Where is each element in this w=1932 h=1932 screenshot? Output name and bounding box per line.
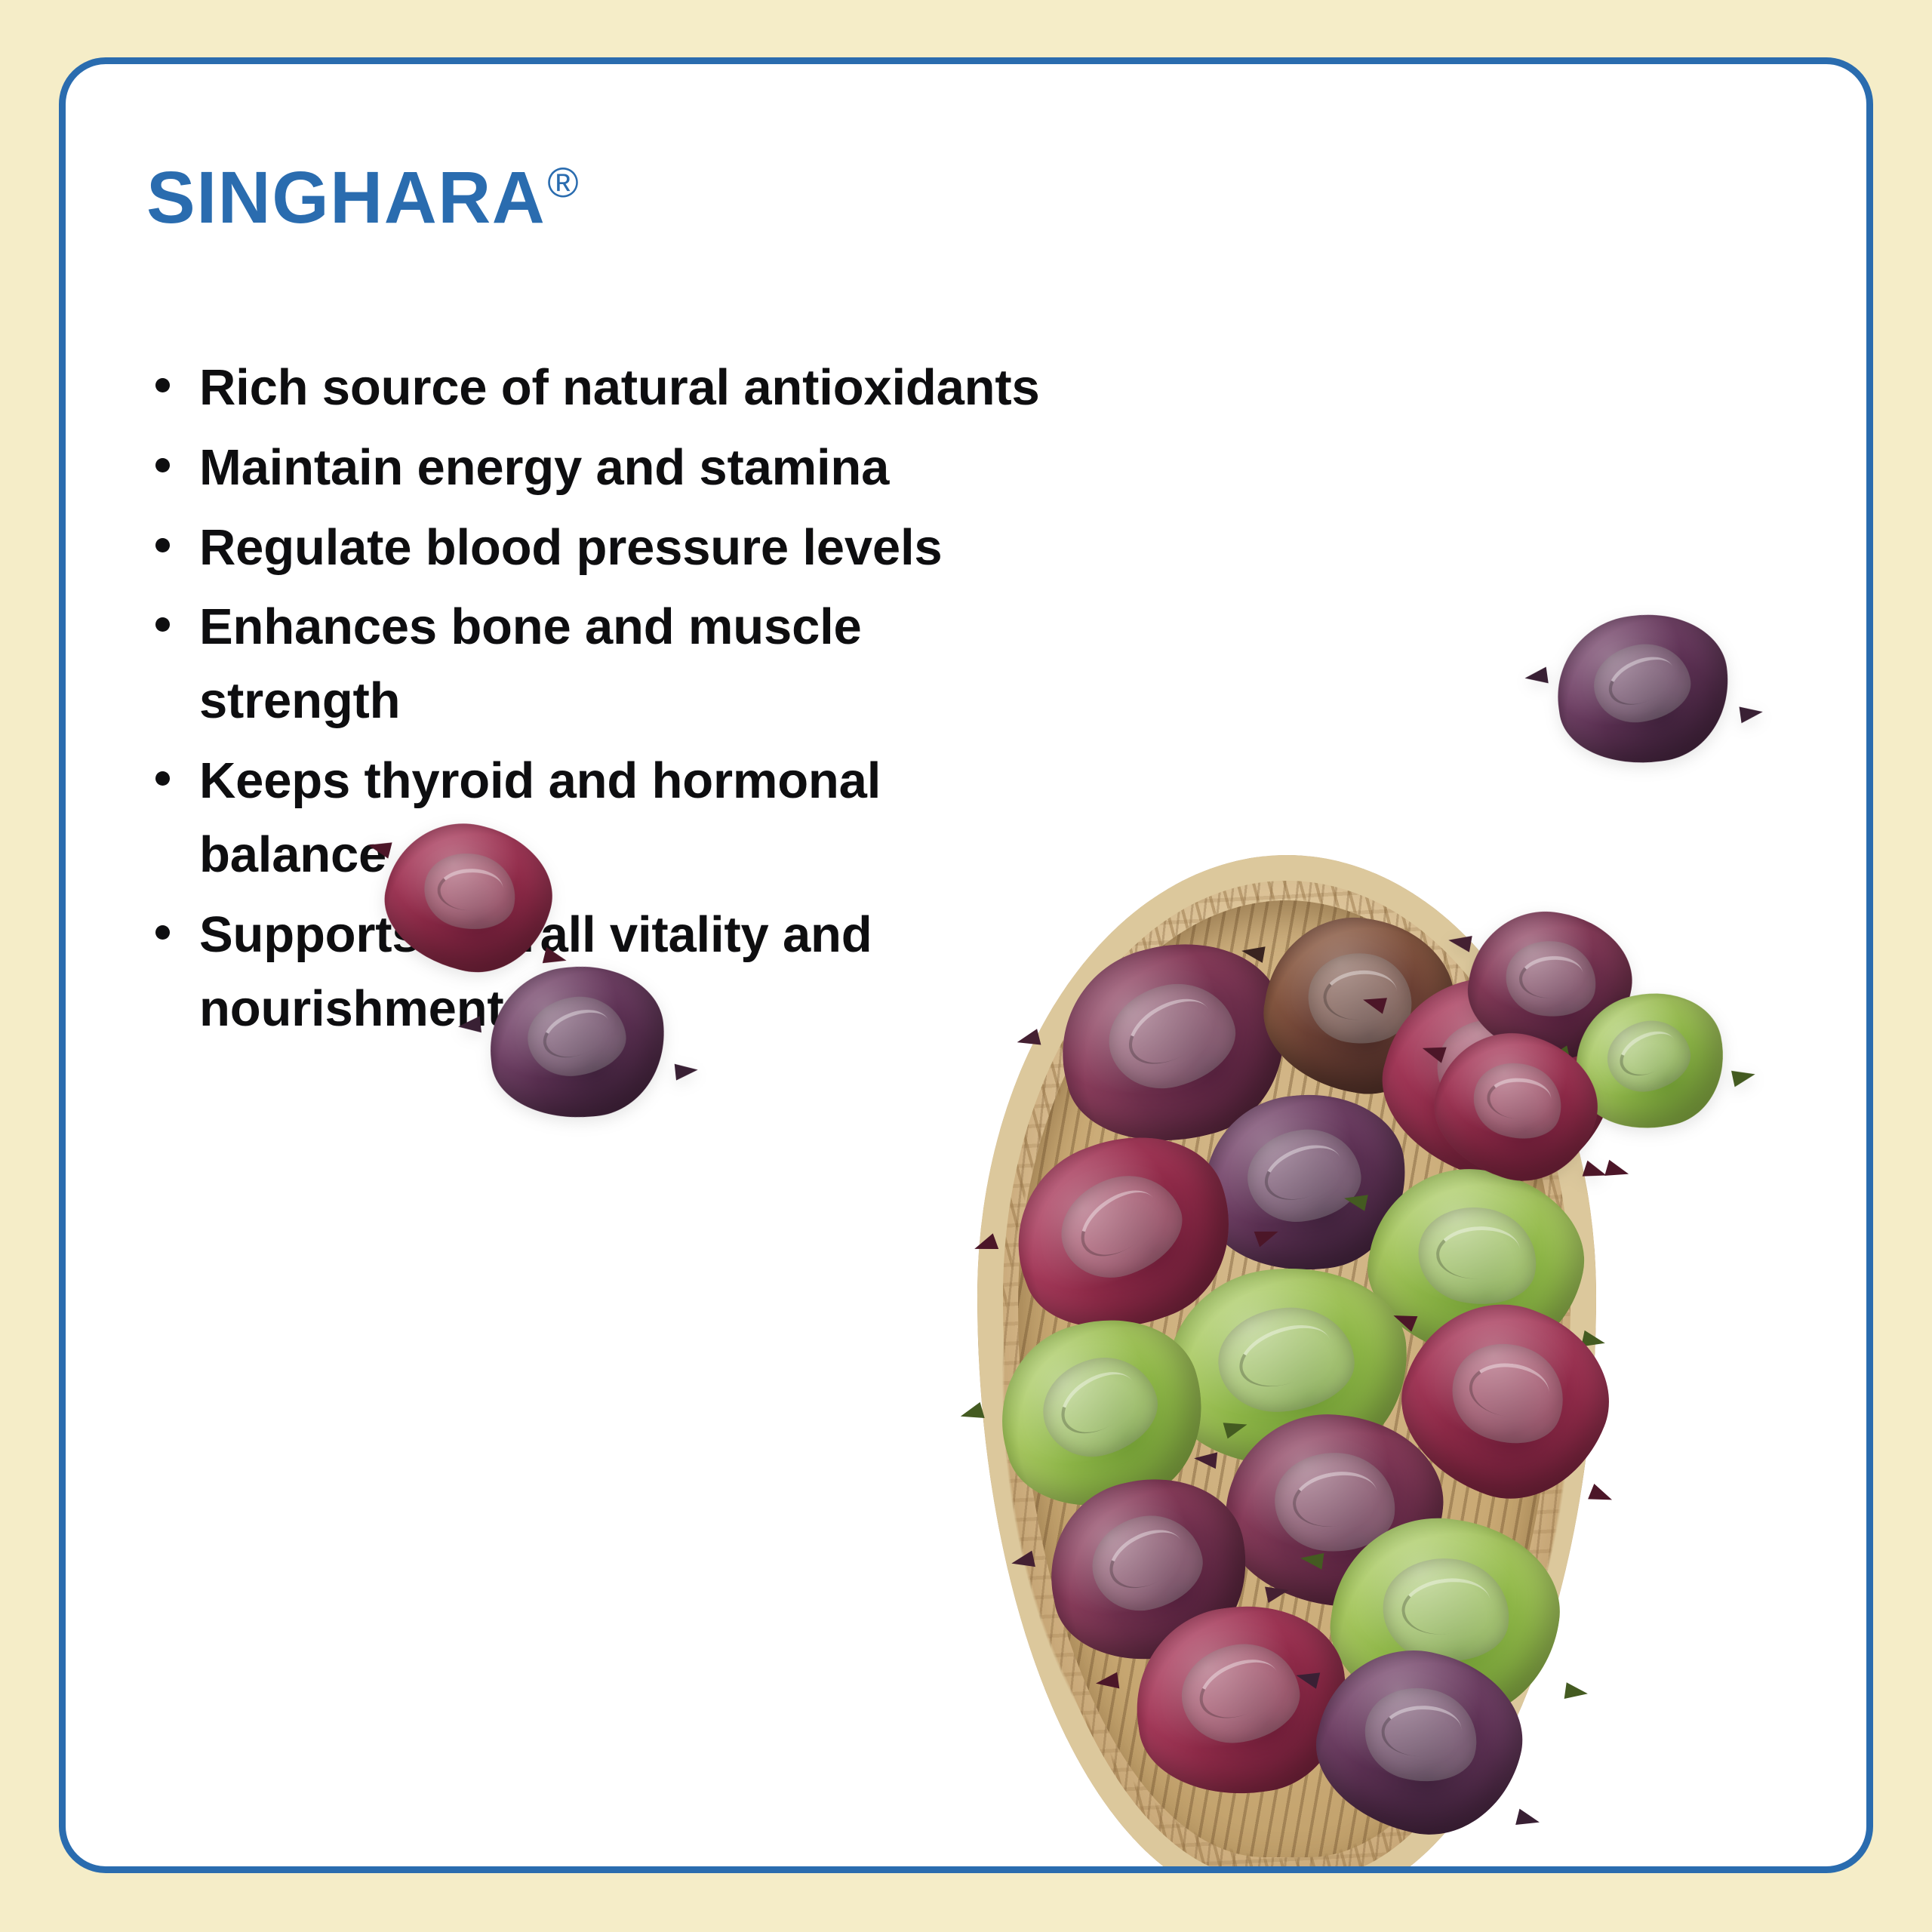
water-chestnut-nut bbox=[1217, 1404, 1452, 1617]
nut-crease bbox=[1191, 1648, 1288, 1730]
nut-crease bbox=[1381, 1705, 1463, 1758]
nut-face bbox=[1425, 1004, 1575, 1138]
list-item: Rich source of natural antioxidants bbox=[146, 351, 1075, 425]
water-chestnut-nut bbox=[979, 1297, 1226, 1531]
list-item: Regulate blood pressure levels bbox=[146, 511, 1075, 585]
water-chestnut-nut bbox=[1458, 900, 1642, 1070]
nut-face bbox=[1270, 1447, 1401, 1558]
page-title: SINGHARA bbox=[146, 161, 546, 234]
nut-crease bbox=[1231, 1313, 1339, 1398]
nut-face bbox=[1464, 1051, 1572, 1150]
nut-crease bbox=[1434, 1223, 1521, 1281]
nut-face bbox=[1048, 1160, 1195, 1292]
water-chestnut-nut bbox=[1353, 1150, 1600, 1376]
nut-face bbox=[1410, 1196, 1546, 1315]
list-item: Enhances bone and muscle strength bbox=[146, 590, 1075, 738]
list-item-label: Enhances bone and muscle strength bbox=[199, 598, 862, 729]
nut-crease bbox=[1486, 1077, 1551, 1120]
bullet-dot-icon bbox=[155, 458, 170, 472]
basket-interior bbox=[1018, 900, 1555, 1857]
content-card: SINGHARA® Rich source of natural antioxi… bbox=[59, 57, 1873, 1873]
list-item: Keeps thyroid and hormonal balance bbox=[146, 744, 1075, 892]
poster-canvas: SINGHARA® Rich source of natural antioxi… bbox=[0, 0, 1932, 1932]
nut-crease bbox=[1257, 1134, 1350, 1210]
nut-face bbox=[1355, 1676, 1488, 1794]
water-chestnut-nut bbox=[1252, 903, 1466, 1107]
nut-face bbox=[1500, 934, 1602, 1024]
water-chestnut-nut bbox=[1124, 1593, 1359, 1808]
nut-crease bbox=[1118, 986, 1222, 1077]
water-chestnut-nut bbox=[1033, 1461, 1264, 1678]
brand-title-wrap: SINGHARA® bbox=[146, 161, 579, 234]
nut-crease bbox=[1601, 648, 1681, 714]
nut-crease bbox=[1051, 1360, 1146, 1447]
nut-crease bbox=[1100, 1518, 1192, 1600]
water-chestnut-nut bbox=[1377, 1275, 1635, 1526]
bullet-dot-icon bbox=[155, 925, 170, 940]
water-chestnut-nut bbox=[1040, 921, 1307, 1165]
benefits-list: Rich source of natural antioxidants Main… bbox=[146, 351, 1075, 1051]
nut-crease bbox=[1467, 1359, 1552, 1420]
water-chestnut-nut bbox=[1319, 1504, 1571, 1731]
registered-trademark-icon: ® bbox=[547, 162, 578, 204]
nut-face bbox=[1301, 945, 1420, 1052]
water-chestnut-nut bbox=[1159, 1260, 1414, 1475]
bullet-dot-icon bbox=[155, 538, 170, 552]
water-chestnut-nut bbox=[990, 1109, 1258, 1358]
bullet-dot-icon bbox=[155, 617, 170, 632]
nut-crease bbox=[1613, 1023, 1684, 1084]
nut-face bbox=[1032, 1345, 1168, 1469]
nut-face bbox=[1377, 1550, 1516, 1669]
nut-crease bbox=[1069, 1177, 1169, 1269]
nut-face bbox=[1589, 638, 1696, 728]
nut-face bbox=[1438, 1327, 1580, 1460]
list-item-label: Rich source of natural antioxidants bbox=[199, 359, 1040, 416]
nut-face bbox=[1243, 1124, 1365, 1227]
nut-crease bbox=[1517, 952, 1586, 1001]
list-item-label: Maintain energy and stamina bbox=[199, 439, 889, 496]
water-chestnut-nut bbox=[1563, 980, 1737, 1142]
nut-face bbox=[1215, 1303, 1357, 1415]
list-item: Maintain energy and stamina bbox=[146, 431, 1075, 505]
nut-crease bbox=[1288, 1465, 1381, 1532]
list-item-label: Supports overall vitality and nourishmen… bbox=[199, 906, 872, 1037]
nut-crease bbox=[1321, 967, 1400, 1023]
water-chestnut-nut bbox=[1362, 953, 1635, 1206]
water-chestnut-nut bbox=[1300, 1630, 1540, 1854]
bullet-dot-icon bbox=[155, 771, 170, 786]
nut-face bbox=[1083, 1506, 1211, 1620]
bullet-dot-icon bbox=[155, 378, 170, 392]
nut-face bbox=[1175, 1636, 1306, 1749]
nut-crease bbox=[1398, 1573, 1494, 1640]
nut-crease bbox=[1456, 1040, 1545, 1095]
list-item-label: Keeps thyroid and hormonal balance bbox=[199, 752, 881, 883]
list-item-label: Regulate blood pressure levels bbox=[199, 519, 942, 576]
water-chestnut-nut bbox=[1418, 1014, 1614, 1199]
list-item: Supports overall vitality and nourishmen… bbox=[146, 898, 1075, 1046]
nut-face bbox=[1098, 971, 1245, 1100]
water-chestnut-nut bbox=[1547, 604, 1738, 774]
water-chestnut-nut bbox=[1195, 1085, 1415, 1281]
nut-face bbox=[1601, 1013, 1697, 1099]
